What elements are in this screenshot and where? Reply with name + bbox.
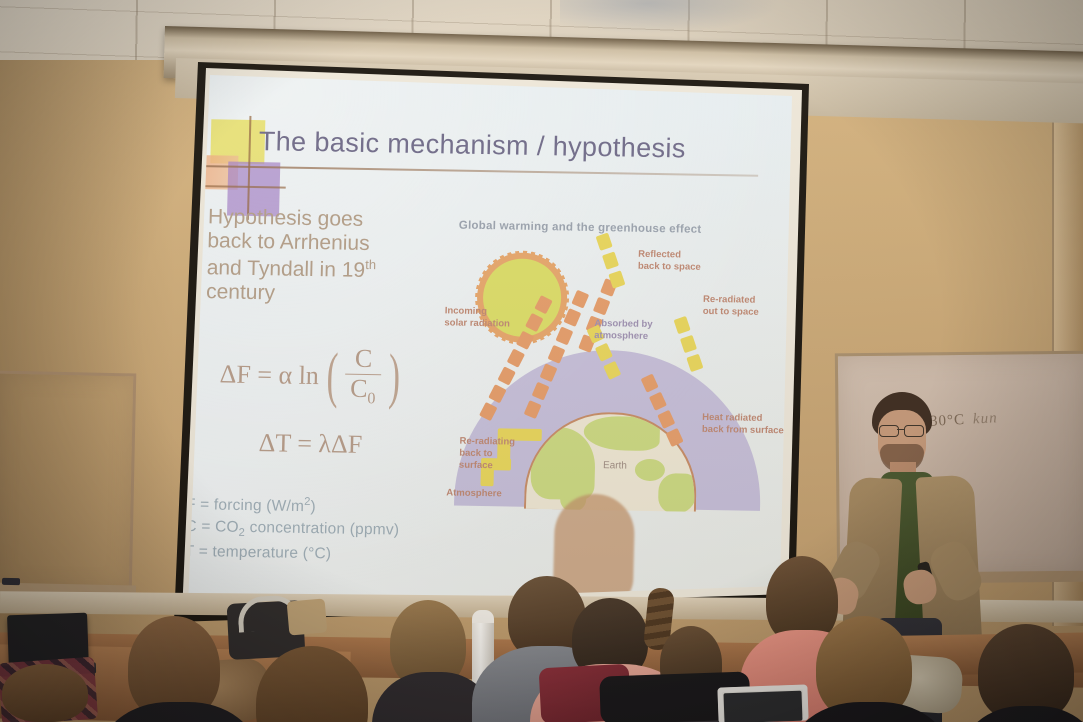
slide-bullet-item: Hypothesis goes back to Arrhenius and Ty…: [185, 205, 402, 308]
equation-forcing: ΔF = α ln ( C C0 ): [196, 343, 427, 408]
thermos-cap: [472, 610, 494, 623]
bullet-text-tail: century: [206, 280, 275, 304]
fraction-numerator: C: [346, 346, 382, 375]
concentration-fraction: C C0: [345, 346, 382, 408]
legend-line-temperature: T = temperature (°C): [185, 541, 399, 567]
slide-legend: F = forcing (W/m2) C = CO2 concentration…: [185, 493, 401, 567]
label-heat-radiated-back-from-surface: Heat radiated back from surface: [702, 412, 784, 437]
audience-head: [2, 664, 88, 722]
bullet-superscript: th: [365, 257, 376, 272]
equation-temperature: ΔT = λΔF: [195, 427, 426, 461]
projection-screen: The basic mechanism / hypothesis Hypothe…: [154, 62, 809, 622]
tablet-screen[interactable]: [724, 691, 803, 722]
label-atmosphere: Atmosphere: [446, 487, 502, 499]
landmass: [635, 459, 666, 482]
label-earth: Earth: [603, 460, 627, 471]
ceiling-stain: [560, 0, 780, 34]
equation-forcing-lhs: ΔF = α ln: [219, 359, 319, 391]
lecture-hall-photo: The basic mechanism / hypothesis Hypothe…: [0, 0, 1083, 722]
figure-title: Global warming and the greenhouse effect: [459, 220, 702, 236]
legend-co2-tail: concentration (ppmv): [245, 519, 400, 539]
legend-forcing-text: F = forcing (W/m: [186, 496, 305, 515]
right-paren: ): [388, 355, 400, 400]
left-whiteboard: [0, 371, 136, 594]
projected-slide-surface: The basic mechanism / hypothesis Hypothe…: [154, 62, 809, 622]
marker-pen: [2, 578, 20, 585]
label-reflected-back-to-space: Reflected back to space: [638, 249, 701, 274]
reflected-ray-arrow: [594, 228, 625, 289]
glasses-right-lens: [904, 425, 924, 437]
slide-content: The basic mechanism / hypothesis Hypothe…: [154, 62, 809, 622]
landmass: [583, 416, 660, 451]
glasses-icon: [878, 425, 926, 435]
glasses-left-lens: [879, 425, 899, 437]
bullet-text: Hypothesis goes back to Arrhenius and Ty…: [206, 205, 402, 308]
legend-co2-text: C = CO: [185, 518, 239, 536]
slide-title: The basic mechanism / hypothesis: [258, 126, 759, 166]
legend-line-concentration: C = CO2 concentration (ppmv): [185, 516, 399, 545]
label-absorbed-by-atmosphere: Absorbed by atmosphere: [594, 318, 653, 343]
fraction-denominator: C0: [350, 374, 376, 407]
fraction-denominator-base: C: [350, 373, 368, 402]
glasses-bridge: [897, 429, 904, 430]
label-reradiating-back-to-surface: Re-radiating back to surface: [459, 436, 515, 473]
label-incoming-solar-radiation: Incoming solar radiation: [444, 305, 510, 330]
legend-forcing-end: ): [310, 498, 316, 515]
landmass: [658, 473, 697, 512]
label-reradiated-out-to-space: Re-radiated out to space: [703, 294, 760, 319]
left-paren: (: [326, 354, 338, 399]
reradiated-space-ray-arrow: [672, 311, 703, 372]
fraction-denominator-sub: 0: [367, 390, 375, 407]
bullet-text-main: Hypothesis goes back to Arrhenius and Ty…: [206, 205, 369, 281]
tan-bag: [287, 598, 328, 635]
